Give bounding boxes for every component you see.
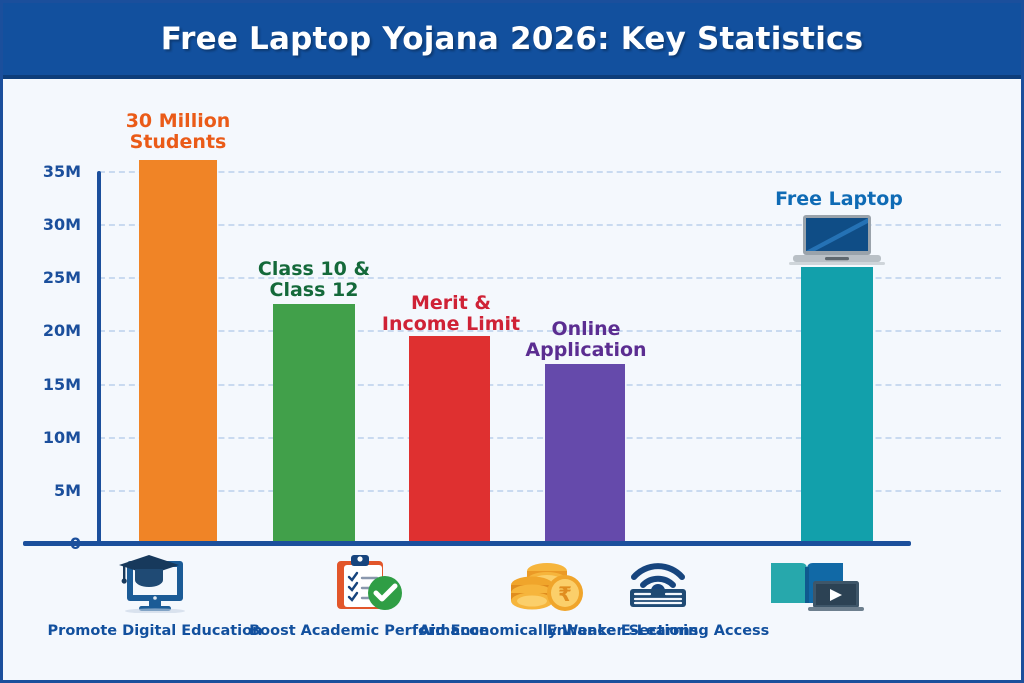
y-axis-tick-label: 20M [23, 321, 81, 340]
infographic-poster: Free Laptop Yojana 2026: Key Statistics … [0, 0, 1024, 683]
bar[interactable] [801, 267, 873, 543]
book-laptop-video-icon [685, 551, 945, 613]
y-axis-tick-label: 5M [23, 481, 81, 500]
bar-value-label: Free Laptop [759, 189, 919, 210]
bar[interactable] [409, 336, 490, 543]
laptop-icon [789, 213, 885, 271]
benefits-strip: Promote Digital Education Boost Academic… [3, 551, 1021, 683]
benefit-item [685, 551, 945, 613]
y-axis-tick-label: 10M [23, 428, 81, 447]
bar[interactable] [139, 160, 217, 543]
y-axis-tick-label: 30M [23, 215, 81, 234]
benefit-caption: Enhance E-Learning Access [528, 623, 788, 639]
bar-value-label: 30 Million Students [95, 111, 261, 154]
y-axis-tick-label: 15M [23, 375, 81, 394]
page-title: Free Laptop Yojana 2026: Key Statistics [161, 21, 864, 57]
bar[interactable] [545, 364, 625, 543]
x-axis-line [23, 541, 911, 546]
y-axis-tick-label: 35M [23, 162, 81, 181]
title-bar: Free Laptop Yojana 2026: Key Statistics [3, 3, 1021, 75]
y-axis-line [97, 171, 101, 543]
laptop-icon [789, 213, 885, 267]
y-axis-tick-label: 25M [23, 268, 81, 287]
bar[interactable] [273, 304, 355, 543]
gridline [99, 171, 1001, 173]
bar-value-label: Online Application [501, 319, 671, 362]
